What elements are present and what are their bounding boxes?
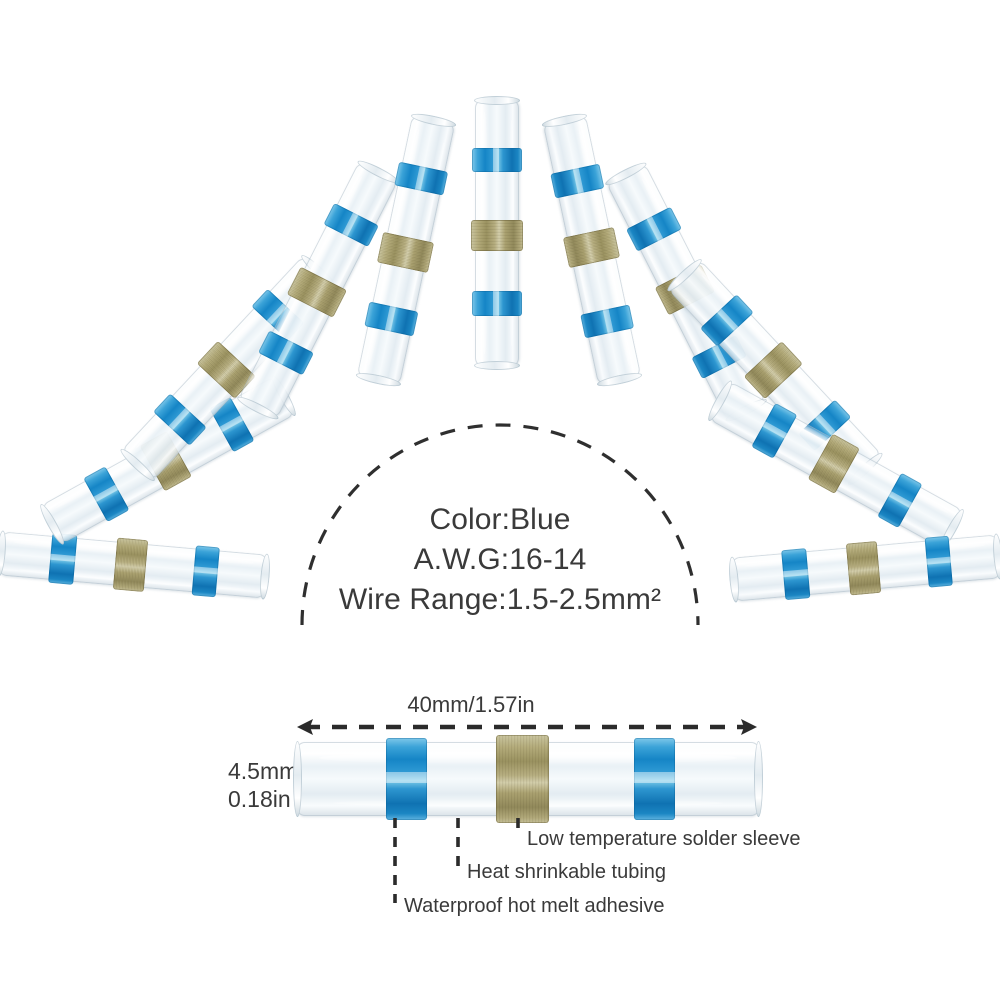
callout-solder-sleeve: Low temperature solder sleeve (527, 828, 800, 851)
product-image-canvas: Color:Blue A.W.G:16-14 Wire Range:1.5-2.… (0, 0, 1000, 1000)
callout-leader-lines (0, 0, 1000, 1000)
callout-heat-shrinkable-tubing: Heat shrinkable tubing (467, 861, 666, 884)
callout-waterproof-adhesive: Waterproof hot melt adhesive (404, 895, 665, 918)
